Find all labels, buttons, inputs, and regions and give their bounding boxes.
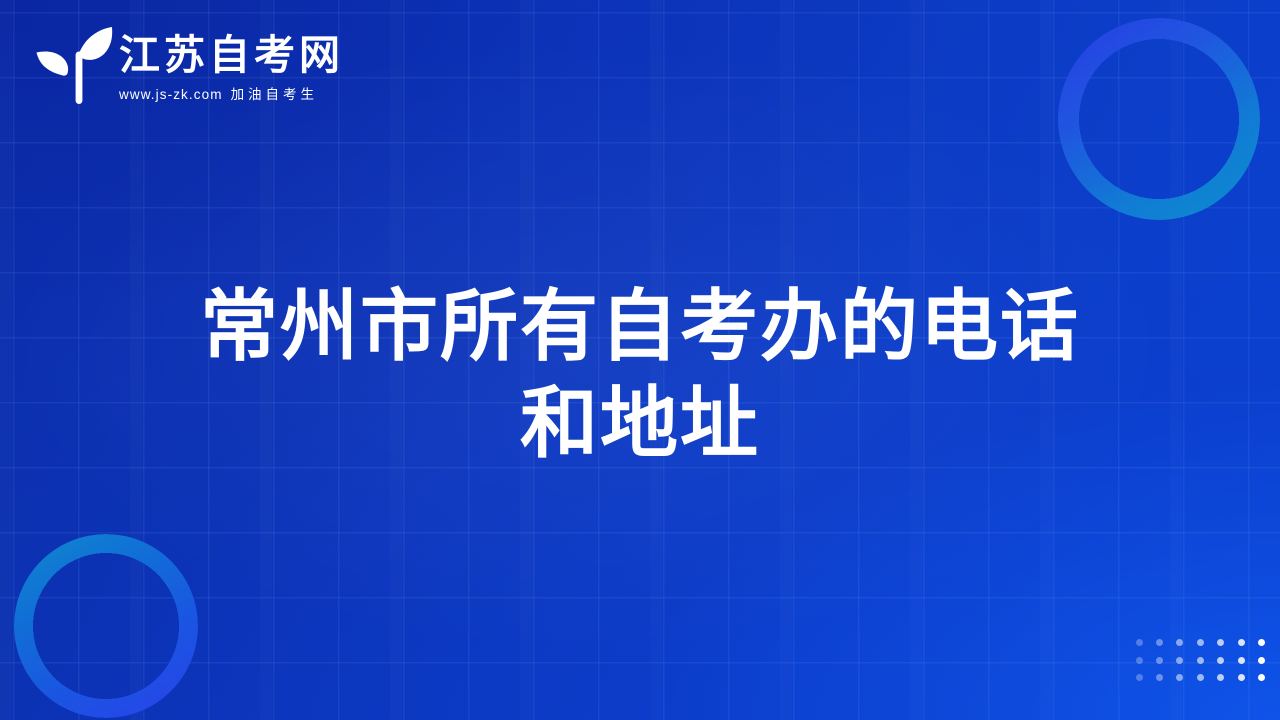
dot — [1176, 639, 1183, 646]
dot — [1258, 639, 1265, 646]
dot — [1136, 674, 1143, 681]
decorative-ring-bottom-left — [14, 534, 198, 718]
dot — [1176, 674, 1183, 681]
dot — [1197, 639, 1204, 646]
logo-url: www.js-zk.com — [119, 87, 223, 102]
dot — [1136, 657, 1143, 664]
dot — [1238, 657, 1245, 664]
dot — [1197, 674, 1204, 681]
dot — [1238, 674, 1245, 681]
logo-title: 江苏自考网 — [119, 32, 344, 78]
dot — [1156, 657, 1163, 664]
sprout-icon — [33, 24, 115, 104]
dot — [1176, 657, 1183, 664]
dot — [1197, 657, 1204, 664]
decorative-dot-grid — [1129, 634, 1272, 687]
dot — [1258, 657, 1265, 664]
poster-canvas: 江苏自考网 www.js-zk.com加油自考生 常州市所有自考办的电话 和地址 — [0, 0, 1280, 720]
dot — [1156, 674, 1163, 681]
decorative-ring-top-right — [1058, 18, 1260, 220]
dot — [1156, 639, 1163, 646]
dot — [1136, 639, 1143, 646]
logo-slogan: 加油自考生 — [231, 87, 319, 102]
page-title: 常州市所有自考办的电话 和地址 — [140, 278, 1140, 472]
dot — [1238, 639, 1245, 646]
dot — [1258, 674, 1265, 681]
dot — [1217, 674, 1224, 681]
dot — [1217, 657, 1224, 664]
site-logo[interactable]: 江苏自考网 www.js-zk.com加油自考生 — [33, 24, 344, 104]
logo-tagline: www.js-zk.com加油自考生 — [119, 87, 344, 103]
dot — [1217, 639, 1224, 646]
logo-text-block: 江苏自考网 www.js-zk.com加油自考生 — [119, 24, 344, 103]
